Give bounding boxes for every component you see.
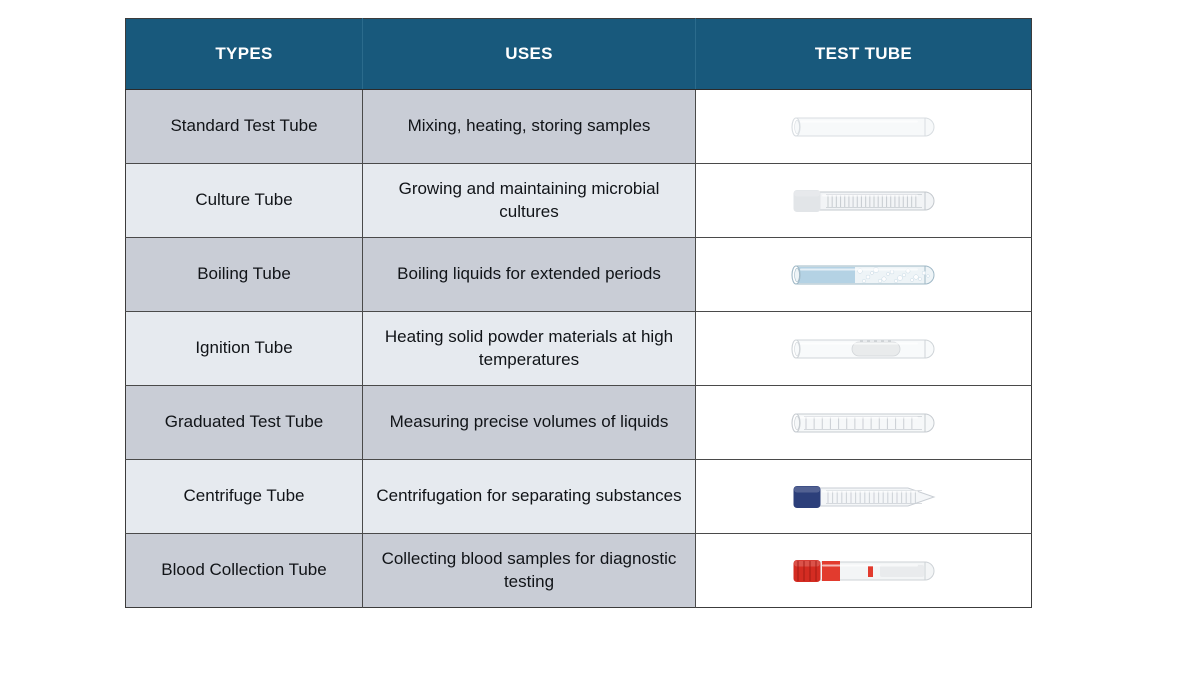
cell-type-label: Boiling Tube	[138, 263, 350, 285]
cell-type: Centrifuge Tube	[126, 460, 363, 534]
cell-type: Blood Collection Tube	[126, 534, 363, 608]
column-header-test-tube: TEST TUBE	[696, 19, 1032, 90]
cell-type-label: Standard Test Tube	[138, 115, 350, 137]
cell-type-label: Graduated Test Tube	[138, 411, 350, 433]
cell-use: Measuring precise volumes of liquids	[363, 386, 696, 460]
cell-test-tube-image	[696, 312, 1032, 386]
column-header-types: TYPES	[126, 19, 363, 90]
cell-type: Boiling Tube	[126, 238, 363, 312]
graduated-test-tube-icon	[696, 386, 1031, 459]
cell-type: Graduated Test Tube	[126, 386, 363, 460]
table-row: Ignition TubeHeating solid powder materi…	[126, 312, 1032, 386]
ignition-tube-icon	[696, 312, 1031, 385]
boiling-tube-icon	[696, 238, 1031, 311]
cell-test-tube-image	[696, 386, 1032, 460]
cell-type-label: Culture Tube	[138, 189, 350, 211]
cell-test-tube-image	[696, 460, 1032, 534]
centrifuge-tube-icon	[696, 460, 1031, 533]
cell-use-label: Collecting blood samples for diagnostic …	[375, 548, 683, 593]
header-row: TYPES USES TEST TUBE	[126, 19, 1032, 90]
blood-collection-tube-icon	[696, 534, 1031, 607]
cell-test-tube-image	[696, 238, 1032, 312]
cell-use: Collecting blood samples for diagnostic …	[363, 534, 696, 608]
table-row: Culture TubeGrowing and maintaining micr…	[126, 164, 1032, 238]
cell-use: Growing and maintaining microbial cultur…	[363, 164, 696, 238]
column-header-uses: USES	[363, 19, 696, 90]
column-header-types-label: TYPES	[215, 44, 272, 63]
page-root: TYPES USES TEST TUBE Standard Test TubeM…	[0, 0, 1200, 675]
standard-test-tube-icon	[696, 90, 1031, 163]
cell-type: Culture Tube	[126, 164, 363, 238]
table-row: Blood Collection TubeCollecting blood sa…	[126, 534, 1032, 608]
cell-type-label: Centrifuge Tube	[138, 485, 350, 507]
table-row: Graduated Test TubeMeasuring precise vol…	[126, 386, 1032, 460]
cell-use-label: Growing and maintaining microbial cultur…	[375, 178, 683, 223]
cell-type: Standard Test Tube	[126, 90, 363, 164]
column-header-test-tube-label: TEST TUBE	[815, 44, 912, 63]
cell-use: Heating solid powder materials at high t…	[363, 312, 696, 386]
cell-test-tube-image	[696, 534, 1032, 608]
culture-tube-icon	[696, 164, 1031, 237]
table-row: Centrifuge TubeCentrifugation for separa…	[126, 460, 1032, 534]
cell-type-label: Ignition Tube	[138, 337, 350, 359]
cell-test-tube-image	[696, 90, 1032, 164]
cell-use-label: Measuring precise volumes of liquids	[375, 411, 683, 433]
test-tube-comparison-table: TYPES USES TEST TUBE Standard Test TubeM…	[125, 18, 1032, 608]
cell-use: Boiling liquids for extended periods	[363, 238, 696, 312]
cell-use: Mixing, heating, storing samples	[363, 90, 696, 164]
cell-use-label: Mixing, heating, storing samples	[375, 115, 683, 137]
cell-use-label: Heating solid powder materials at high t…	[375, 326, 683, 371]
cell-test-tube-image	[696, 164, 1032, 238]
cell-type-label: Blood Collection Tube	[138, 559, 350, 581]
cell-use: Centrifugation for separating substances	[363, 460, 696, 534]
table-body: Standard Test TubeMixing, heating, stori…	[126, 90, 1032, 608]
table-row: Standard Test TubeMixing, heating, stori…	[126, 90, 1032, 164]
cell-use-label: Centrifugation for separating substances	[375, 485, 683, 507]
table-header: TYPES USES TEST TUBE	[126, 19, 1032, 90]
cell-type: Ignition Tube	[126, 312, 363, 386]
table-row: Boiling TubeBoiling liquids for extended…	[126, 238, 1032, 312]
column-header-uses-label: USES	[505, 44, 553, 63]
cell-use-label: Boiling liquids for extended periods	[375, 263, 683, 285]
